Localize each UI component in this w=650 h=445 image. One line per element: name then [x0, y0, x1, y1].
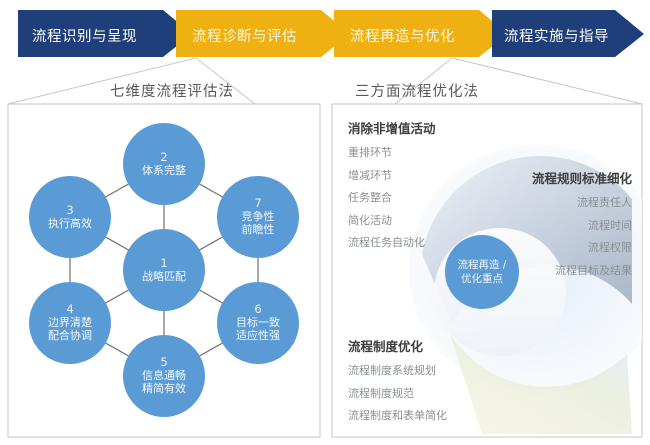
dimension-node-1[interactable]: 1 战略匹配	[123, 229, 205, 311]
dimension-node-1-number: 1	[160, 257, 167, 270]
dimension-node-4-number: 4	[66, 303, 73, 316]
section-rule-standardization-item-2[interactable]: 流程时间	[532, 217, 632, 233]
section-rule-standardization: 流程规则标准细化 流程责任人 流程时间 流程权限 流程目标及结果	[532, 168, 632, 284]
section-rule-standardization-item-4[interactable]: 流程目标及结果	[532, 262, 632, 278]
seven-dimension-hexagon-diagram: 2 体系完整 3 执行高效 7 竞争性 前瞻性 1 战略匹配 4 边界清楚 配合…	[8, 104, 320, 437]
section-system-optimization-item-3[interactable]: 流程制度和表单简化	[348, 407, 447, 423]
section-system-optimization: 流程制度优化 流程制度系统规划 流程制度规范 流程制度和表单简化	[348, 336, 447, 430]
dimension-node-6-number: 6	[254, 303, 261, 316]
dimension-node-7-label-2: 前瞻性	[242, 224, 275, 237]
section-rule-standardization-heading: 流程规则标准细化	[532, 168, 632, 187]
dimension-node-6[interactable]: 6 目标一致 适应性强	[217, 282, 299, 364]
optimization-focus-line-2: 优化重点	[461, 272, 503, 286]
dimension-node-5[interactable]: 5 信息通畅 精简有效	[123, 335, 205, 417]
section-eliminate-nonvalue-item-1[interactable]: 重排环节	[348, 144, 436, 160]
dimension-node-7-number: 7	[254, 197, 261, 210]
optimization-focus-line-1: 流程再造 /	[458, 258, 507, 272]
dimension-node-6-label-2: 适应性强	[236, 330, 280, 343]
dimension-node-1-label-1: 战略匹配	[142, 271, 186, 284]
chevron-shape-2[interactable]	[176, 10, 350, 57]
section-system-optimization-item-2[interactable]: 流程制度规范	[348, 385, 447, 401]
chevron-shape-1[interactable]	[18, 10, 192, 57]
dimension-node-7[interactable]: 7 竞争性 前瞻性	[217, 176, 299, 258]
chevron-shapes	[0, 0, 650, 58]
section-system-optimization-heading: 流程制度优化	[348, 336, 447, 355]
process-steps-bar: 流程识别与呈现 流程诊断与评估 流程再造与优化 流程实施与指导	[0, 0, 650, 58]
section-eliminate-nonvalue-item-2[interactable]: 增减环节	[348, 167, 436, 183]
dimension-node-4-label-2: 配合协调	[48, 330, 92, 343]
dimension-node-3[interactable]: 3 执行高效	[29, 176, 111, 258]
section-rule-standardization-item-3[interactable]: 流程权限	[532, 239, 632, 255]
dimension-node-5-number: 5	[160, 356, 167, 369]
three-aspect-optimization-diagram: 流程再造 / 优化重点 消除非增值活动 重排环节 增减环节 任务整合 简化活动 …	[332, 104, 642, 437]
section-eliminate-nonvalue-item-4[interactable]: 简化活动	[348, 212, 436, 228]
section-rule-standardization-item-1[interactable]: 流程责任人	[532, 194, 632, 210]
section-eliminate-nonvalue: 消除非增值活动 重排环节 增减环节 任务整合 简化活动 流程任务自动化	[348, 118, 436, 257]
section-system-optimization-item-1[interactable]: 流程制度系统规划	[348, 362, 447, 378]
left-panel-title: 七维度流程评估法	[110, 80, 234, 101]
chevron-shape-4[interactable]	[492, 10, 644, 57]
dimension-node-4[interactable]: 4 边界清楚 配合协调	[29, 282, 111, 364]
chevron-shape-3[interactable]	[334, 10, 508, 57]
dimension-node-5-label-2: 精简有效	[142, 383, 186, 396]
right-panel-title: 三方面流程优化法	[355, 80, 479, 101]
optimization-focus-bubble[interactable]: 流程再造 / 优化重点	[445, 235, 519, 309]
section-eliminate-nonvalue-heading: 消除非增值活动	[348, 118, 436, 137]
dimension-node-3-number: 3	[66, 204, 73, 217]
dimension-node-2-number: 2	[160, 151, 167, 164]
dimension-node-2[interactable]: 2 体系完整	[123, 123, 205, 205]
dimension-node-2-label-1: 体系完整	[142, 165, 186, 178]
section-eliminate-nonvalue-item-5[interactable]: 流程任务自动化	[348, 234, 436, 250]
section-eliminate-nonvalue-item-3[interactable]: 任务整合	[348, 189, 436, 205]
dimension-node-3-label-1: 执行高效	[48, 218, 92, 231]
